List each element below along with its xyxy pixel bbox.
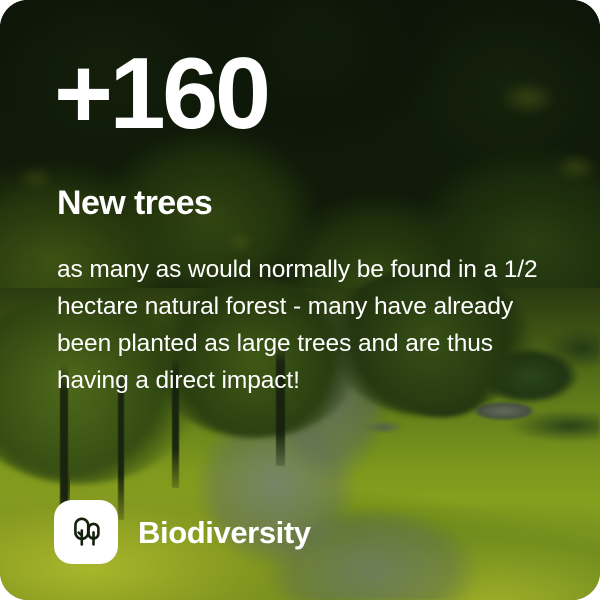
stat-title: New trees xyxy=(57,185,212,222)
two-trees-icon xyxy=(54,500,118,564)
category-badge[interactable]: Biodiversity xyxy=(54,500,311,564)
biodiversity-stat-card: +160 New trees as many as would normally… xyxy=(0,0,600,600)
card-content: +160 New trees as many as would normally… xyxy=(0,0,600,600)
stat-description: as many as would normally be found in a … xyxy=(57,251,557,399)
stat-number: +160 xyxy=(54,44,268,145)
category-label: Biodiversity xyxy=(138,517,311,548)
